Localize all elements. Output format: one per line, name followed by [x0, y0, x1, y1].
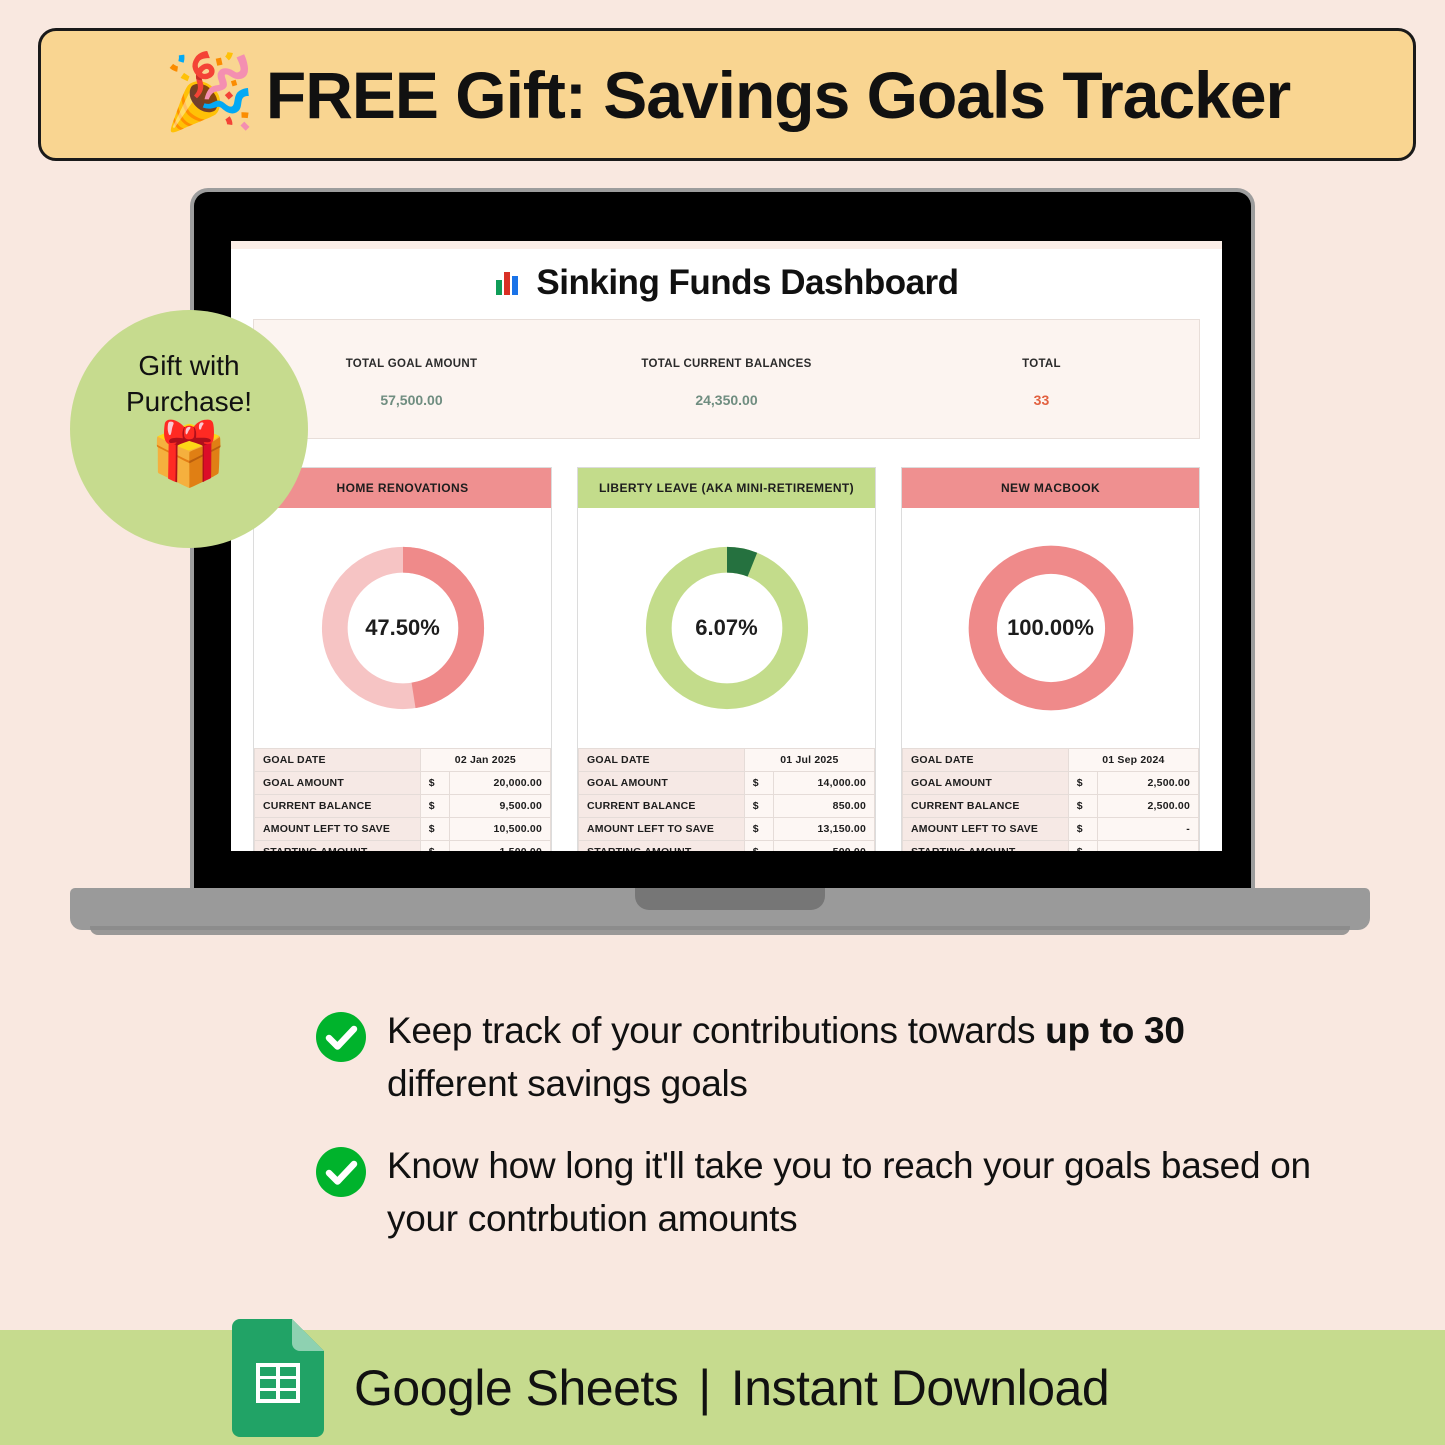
promo-graphic: 🎉 FREE Gift: Savings Goals Tracker Sinki… — [0, 0, 1445, 1445]
row-label: CURRENT BALANCE — [255, 795, 421, 818]
gift-badge-line-2: Purchase! — [126, 384, 252, 420]
currency-symbol: $ — [744, 841, 774, 852]
row-label: GOAL DATE — [903, 749, 1069, 772]
goal-card-liberty-leave: LIBERTY LEAVE (AKA MINI-RETIREMENT) 6.07… — [577, 467, 876, 851]
table-row: GOAL AMOUNT $ 2,500.00 — [903, 772, 1199, 795]
bullet-text: Keep track of your contributions towards… — [387, 1005, 1315, 1110]
laptop-lid: Sinking Funds Dashboard TOTAL GOAL AMOUN… — [190, 188, 1255, 894]
bullet-post: different savings goals — [387, 1063, 748, 1104]
gift-icon: 🎁 — [150, 424, 227, 486]
footer-label-left: Google Sheets — [354, 1360, 678, 1416]
sheet-top-strip — [231, 241, 1222, 249]
table-row: GOAL AMOUNT $ 20,000.00 — [255, 772, 551, 795]
check-circle-icon — [315, 1146, 367, 1198]
goal-amount-value: 20,000.00 — [450, 772, 551, 795]
row-label: STARTING AMOUNT — [255, 841, 421, 852]
donut-chart-liberty-leave: 6.07% — [637, 538, 817, 718]
currency-symbol: $ — [420, 818, 450, 841]
footer-bar: Google Sheets|Instant Download — [0, 1330, 1445, 1445]
table-row: CURRENT BALANCE $ 850.00 — [579, 795, 875, 818]
goal-date-value: 01 Jul 2025 — [744, 749, 874, 772]
currency-symbol: $ — [420, 772, 450, 795]
bullet-text: Know how long it'll take you to reach yo… — [387, 1140, 1315, 1245]
row-label: CURRENT BALANCE — [903, 795, 1069, 818]
donut-chart-container: 6.07% — [578, 508, 875, 748]
dashboard-title-row: Sinking Funds Dashboard — [231, 249, 1222, 319]
table-row: AMOUNT LEFT TO SAVE $ 13,150.00 — [579, 818, 875, 841]
goal-details-table: GOAL DATE 01 Jul 2025 GOAL AMOUNT $ 14,0… — [578, 748, 875, 851]
goal-cards: HOME RENOVATIONS 47.50% — [253, 467, 1200, 851]
goal-card-title: NEW MACBOOK — [902, 468, 1199, 508]
stat-total-clipped: TOTAL 33 — [884, 320, 1199, 438]
page-title: Sinking Funds Dashboard — [536, 263, 958, 303]
row-label: STARTING AMOUNT — [579, 841, 745, 852]
goal-card-new-macbook: NEW MACBOOK 100.00% — [901, 467, 1200, 851]
row-label: GOAL DATE — [579, 749, 745, 772]
table-row: STARTING AMOUNT $ 500.00 — [579, 841, 875, 852]
current-balance-value: 9,500.00 — [450, 795, 551, 818]
table-row: AMOUNT LEFT TO SAVE $ 10,500.00 — [255, 818, 551, 841]
spreadsheet-dashboard: Sinking Funds Dashboard TOTAL GOAL AMOUN… — [231, 241, 1222, 851]
currency-symbol: $ — [744, 795, 774, 818]
footer-label-right: Instant Download — [731, 1360, 1109, 1416]
table-row: GOAL AMOUNT $ 14,000.00 — [579, 772, 875, 795]
goal-details-table: GOAL DATE 02 Jan 2025 GOAL AMOUNT $ 20,0… — [254, 748, 551, 851]
laptop-base-shadow — [90, 926, 1350, 935]
bullet-pre: Keep track of your contributions towards — [387, 1010, 1045, 1051]
laptop-notch — [635, 888, 825, 910]
table-row: GOAL DATE 01 Jul 2025 — [579, 749, 875, 772]
row-label: AMOUNT LEFT TO SAVE — [903, 818, 1069, 841]
currency-symbol: $ — [744, 772, 774, 795]
stat-value: 33 — [1034, 392, 1050, 408]
footer-text: Google Sheets|Instant Download — [354, 1359, 1109, 1417]
amount-left-value: - — [1098, 818, 1199, 841]
current-balance-value: 850.00 — [774, 795, 875, 818]
starting-amount-value: 1,500.00 — [450, 841, 551, 852]
feature-bullets: Keep track of your contributions towards… — [315, 1005, 1315, 1275]
laptop-screen: Sinking Funds Dashboard TOTAL GOAL AMOUN… — [231, 241, 1222, 851]
donut-chart-container: 47.50% — [254, 508, 551, 748]
bullet-bold: up to 30 — [1045, 1010, 1184, 1051]
table-row: AMOUNT LEFT TO SAVE $ - — [903, 818, 1199, 841]
currency-symbol: $ — [744, 818, 774, 841]
table-row: GOAL DATE 01 Sep 2024 — [903, 749, 1199, 772]
starting-amount-value: - — [1098, 841, 1199, 852]
row-label: AMOUNT LEFT TO SAVE — [579, 818, 745, 841]
amount-left-value: 10,500.00 — [450, 818, 551, 841]
goal-details-table: GOAL DATE 01 Sep 2024 GOAL AMOUNT $ 2,50… — [902, 748, 1199, 851]
check-circle-icon — [315, 1011, 367, 1063]
goal-amount-value: 14,000.00 — [774, 772, 875, 795]
goal-card-home-renovations: HOME RENOVATIONS 47.50% — [253, 467, 552, 851]
starting-amount-value: 500.00 — [774, 841, 875, 852]
donut-percent-label: 47.50% — [313, 538, 493, 718]
currency-symbol: $ — [1068, 818, 1098, 841]
currency-symbol: $ — [1068, 841, 1098, 852]
bar-chart-icon — [494, 268, 524, 298]
goal-date-value: 02 Jan 2025 — [420, 749, 550, 772]
currency-symbol: $ — [420, 795, 450, 818]
list-item: Know how long it'll take you to reach yo… — [315, 1140, 1315, 1245]
laptop-mockup: Sinking Funds Dashboard TOTAL GOAL AMOUN… — [190, 188, 1255, 910]
summary-stats-band: TOTAL GOAL AMOUNT 57,500.00 TOTAL CURREN… — [253, 319, 1200, 439]
row-label: GOAL AMOUNT — [579, 772, 745, 795]
table-row: STARTING AMOUNT $ 1,500.00 — [255, 841, 551, 852]
google-sheets-icon — [232, 1319, 324, 1437]
stat-label: TOTAL CURRENT BALANCES — [641, 358, 811, 370]
currency-symbol: $ — [1068, 772, 1098, 795]
donut-chart-container: 100.00% — [902, 508, 1199, 748]
row-label: STARTING AMOUNT — [903, 841, 1069, 852]
stat-label: TOTAL — [1022, 358, 1061, 370]
gift-with-purchase-badge: Gift with Purchase! 🎁 — [70, 310, 308, 548]
stat-value: 57,500.00 — [380, 392, 442, 408]
amount-left-value: 13,150.00 — [774, 818, 875, 841]
current-balance-value: 2,500.00 — [1098, 795, 1199, 818]
banner-title: FREE Gift: Savings Goals Tracker — [266, 57, 1290, 133]
row-label: AMOUNT LEFT TO SAVE — [255, 818, 421, 841]
donut-percent-label: 6.07% — [637, 538, 817, 718]
row-label: CURRENT BALANCE — [579, 795, 745, 818]
goal-date-value: 01 Sep 2024 — [1068, 749, 1198, 772]
currency-symbol: $ — [1068, 795, 1098, 818]
donut-chart-home-renovations: 47.50% — [313, 538, 493, 718]
party-popper-icon: 🎉 — [164, 55, 256, 129]
table-row: GOAL DATE 02 Jan 2025 — [255, 749, 551, 772]
stat-value: 24,350.00 — [695, 392, 757, 408]
stat-total-current-balances: TOTAL CURRENT BALANCES 24,350.00 — [569, 320, 884, 438]
list-item: Keep track of your contributions towards… — [315, 1005, 1315, 1110]
goal-card-title: LIBERTY LEAVE (AKA MINI-RETIREMENT) — [578, 468, 875, 508]
donut-percent-label: 100.00% — [961, 538, 1141, 718]
stat-label: TOTAL GOAL AMOUNT — [346, 358, 478, 370]
table-row: STARTING AMOUNT $ - — [903, 841, 1199, 852]
table-row: CURRENT BALANCE $ 2,500.00 — [903, 795, 1199, 818]
free-gift-banner: 🎉 FREE Gift: Savings Goals Tracker — [38, 28, 1416, 161]
footer-separator: | — [678, 1359, 731, 1417]
goal-amount-value: 2,500.00 — [1098, 772, 1199, 795]
row-label: GOAL AMOUNT — [903, 772, 1069, 795]
donut-chart-new-macbook: 100.00% — [961, 538, 1141, 718]
gift-badge-line-1: Gift with — [138, 348, 239, 384]
row-label: GOAL DATE — [255, 749, 421, 772]
row-label: GOAL AMOUNT — [255, 772, 421, 795]
table-row: CURRENT BALANCE $ 9,500.00 — [255, 795, 551, 818]
currency-symbol: $ — [420, 841, 450, 852]
